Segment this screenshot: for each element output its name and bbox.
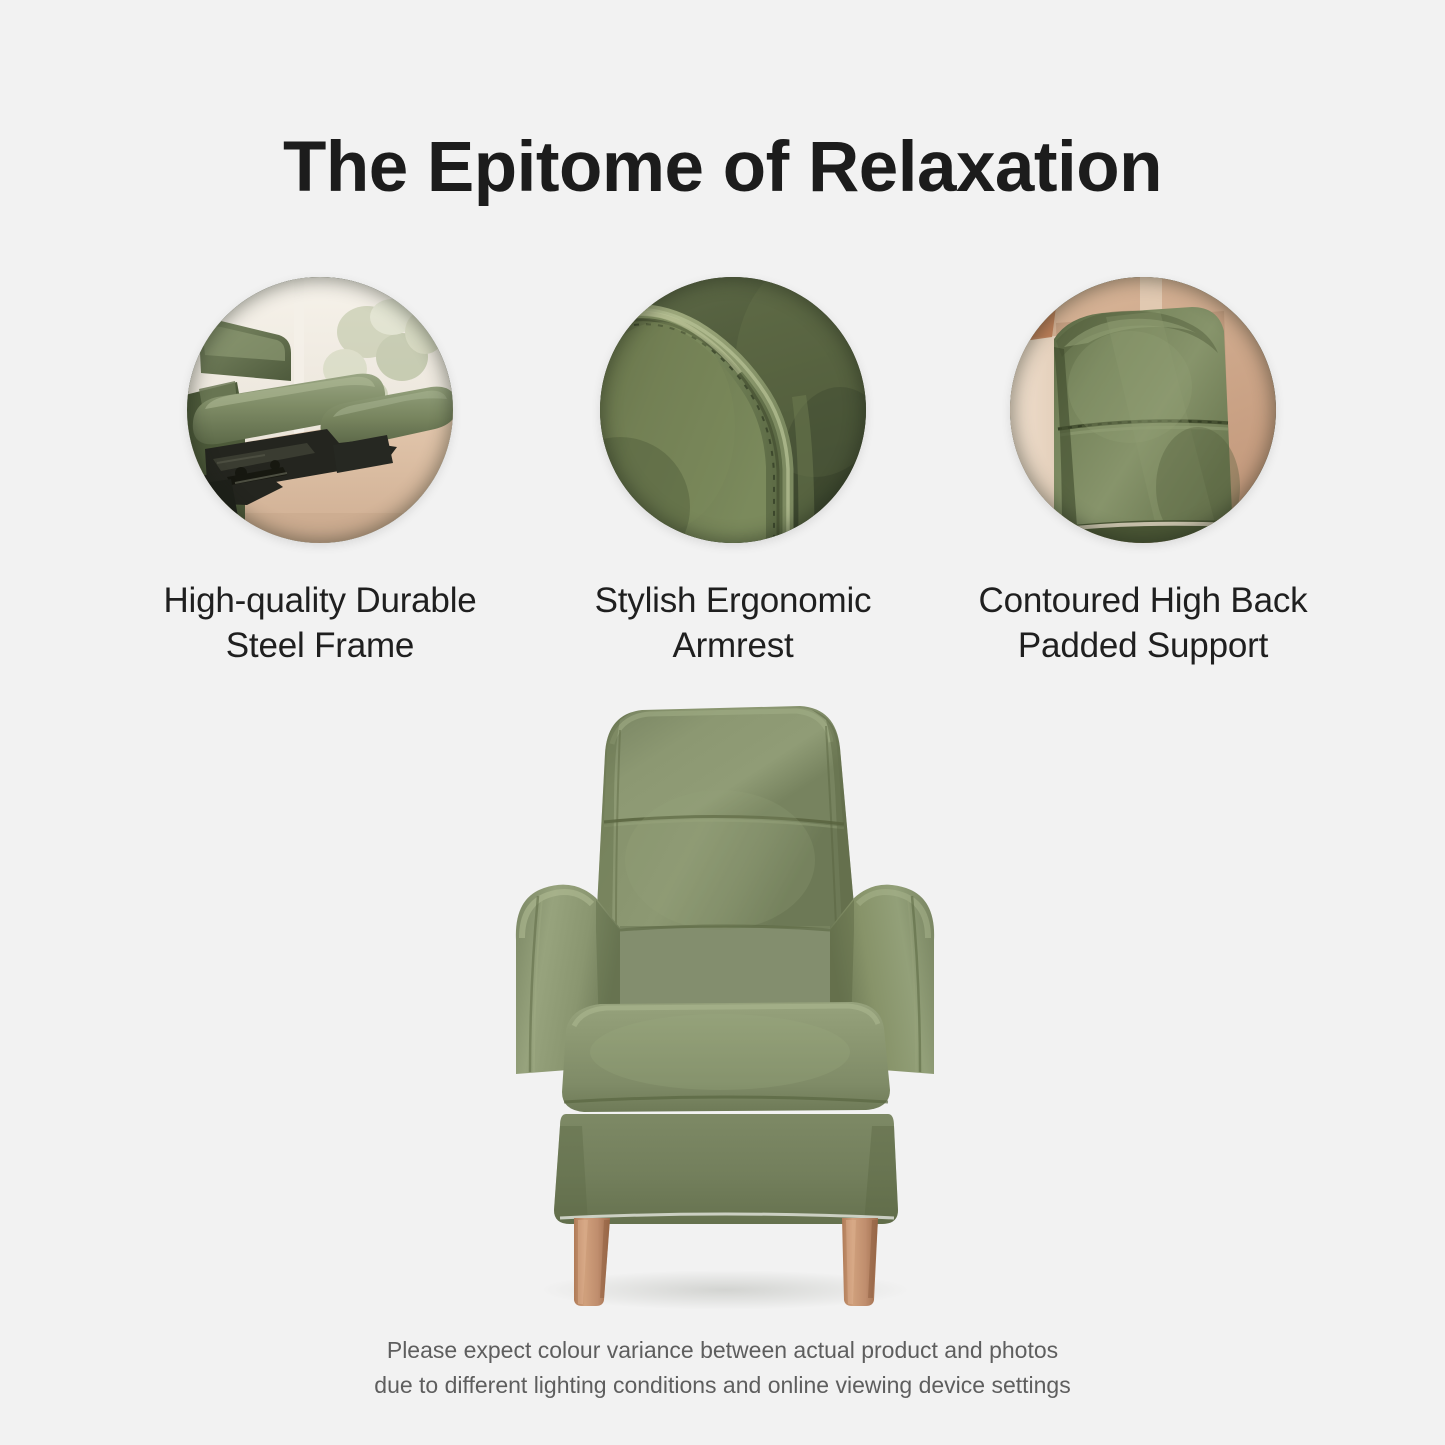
feature-caption-line2: Padded Support bbox=[1018, 626, 1268, 665]
feature-caption-high-back: Contoured High Back Padded Support bbox=[943, 579, 1343, 669]
feature-caption-line2: Armrest bbox=[672, 626, 793, 665]
feature-row: High-quality Durable Steel Frame bbox=[0, 277, 1445, 697]
feature-caption-steel-frame: High-quality Durable Steel Frame bbox=[120, 579, 520, 669]
armrest-image bbox=[600, 277, 866, 543]
feature-caption-line1: High-quality Durable bbox=[163, 581, 476, 620]
feature-item-steel-frame: High-quality Durable Steel Frame bbox=[120, 277, 520, 669]
feature-item-high-back: Contoured High Back Padded Support bbox=[943, 277, 1343, 669]
feature-caption-line1: Stylish Ergonomic bbox=[595, 581, 872, 620]
disclaimer-text: Please expect colour variance between ac… bbox=[0, 1333, 1445, 1402]
steel-frame-image bbox=[187, 277, 453, 543]
feature-caption-armrest: Stylish Ergonomic Armrest bbox=[533, 579, 933, 669]
product-feature-infographic: The Epitome of Relaxation bbox=[0, 0, 1445, 1445]
feature-caption-line1: Contoured High Back bbox=[979, 581, 1308, 620]
hero-product-image bbox=[470, 690, 980, 1315]
high-back-image bbox=[1010, 277, 1276, 543]
page-title: The Epitome of Relaxation bbox=[0, 131, 1445, 206]
feature-item-armrest: Stylish Ergonomic Armrest bbox=[533, 277, 933, 669]
disclaimer-line1: Please expect colour variance between ac… bbox=[0, 1333, 1445, 1368]
feature-caption-line2: Steel Frame bbox=[226, 626, 414, 665]
disclaimer-line2: due to different lighting conditions and… bbox=[0, 1368, 1445, 1403]
